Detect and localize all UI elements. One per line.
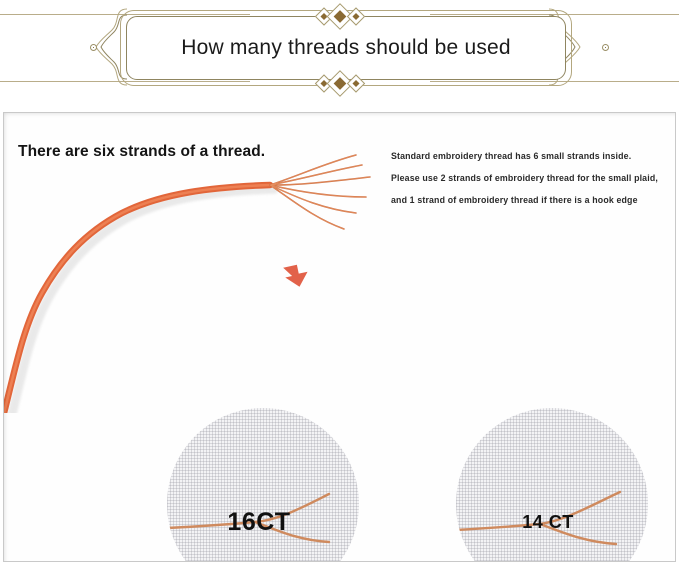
count-label-16ct: 16CT bbox=[163, 508, 355, 537]
instruction-line-3: and 1 strand of embroidery thread if the… bbox=[391, 189, 676, 211]
page-title: How many threads should be used bbox=[126, 16, 566, 80]
banner-finial-left-icon bbox=[90, 44, 97, 51]
title-banner: How many threads should be used bbox=[0, 0, 679, 96]
two-strand-thread-illustration bbox=[167, 408, 359, 562]
instruction-line-1: Standard embroidery thread has 6 small s… bbox=[391, 145, 676, 167]
instruction-paragraph: Standard embroidery thread has 6 small s… bbox=[391, 145, 676, 211]
embroidery-thread-illustration bbox=[4, 113, 404, 413]
fabric-sample-16ct: 2-strand wire bbox=[167, 408, 359, 562]
instruction-photo-panel: There are six strands of a thread. bbox=[3, 112, 676, 562]
two-strand-thread-illustration bbox=[456, 408, 648, 562]
wire-label-16ct: 2-strand wire bbox=[167, 558, 359, 562]
fabric-sample-14ct: 2-strand wire bbox=[456, 408, 648, 562]
instruction-line-2: Please use 2 strands of embroidery threa… bbox=[391, 167, 676, 189]
banner-finial-right-icon bbox=[602, 44, 609, 51]
wire-label-14ct: 2-strand wire bbox=[456, 558, 648, 562]
count-label-14ct: 14 CT bbox=[452, 512, 644, 533]
